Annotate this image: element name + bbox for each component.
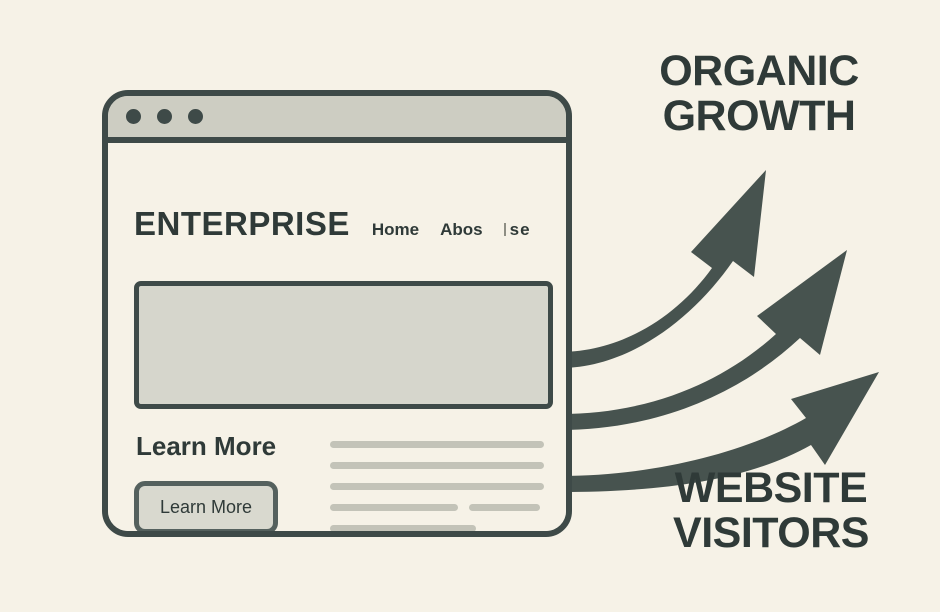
placeholder-line <box>330 483 544 490</box>
nav-link-partial[interactable]: se <box>504 220 531 240</box>
illustration-canvas: ENTERPRISE Home Abos se Learn More Learn… <box>0 0 940 612</box>
placeholder-line <box>330 462 544 469</box>
placeholder-line <box>469 504 540 511</box>
browser-window-mockup: ENTERPRISE Home Abos se Learn More Learn… <box>102 90 572 537</box>
site-header: ENTERPRISE Home Abos se <box>134 205 546 243</box>
label-organic-growth-line1: ORGANIC <box>586 49 932 94</box>
placeholder-line-row <box>330 525 544 532</box>
placeholder-line <box>330 525 476 532</box>
nav-link-partial-label: se <box>510 220 531 239</box>
label-website-visitors-line2: VISITORS <box>610 511 932 556</box>
placeholder-line-row <box>330 483 544 490</box>
cta-column: Learn More Learn More <box>134 433 330 537</box>
nav-link-abos[interactable]: Abos <box>440 220 483 240</box>
window-dot-close-icon[interactable] <box>126 109 141 124</box>
content-lower-section: Learn More Learn More <box>134 433 544 537</box>
learn-more-button[interactable]: Learn More <box>134 481 278 534</box>
placeholder-line <box>330 441 544 448</box>
window-dot-minimize-icon[interactable] <box>157 109 172 124</box>
site-navigation: Home Abos se <box>372 220 531 243</box>
label-website-visitors-line1: WEBSITE <box>610 466 932 511</box>
label-website-visitors: WEBSITE VISITORS <box>610 466 932 555</box>
hero-image-placeholder <box>134 281 553 409</box>
label-organic-growth-line2: GROWTH <box>586 94 932 139</box>
cta-heading: Learn More <box>136 433 330 459</box>
placeholder-line-row <box>330 462 544 469</box>
nav-divider-tick <box>504 223 506 236</box>
window-dot-maximize-icon[interactable] <box>188 109 203 124</box>
nav-link-home[interactable]: Home <box>372 220 419 240</box>
placeholder-line-row <box>330 504 544 511</box>
site-brand-logo[interactable]: ENTERPRISE <box>134 205 350 243</box>
label-organic-growth: ORGANIC GROWTH <box>586 49 932 138</box>
placeholder-text-block <box>330 433 544 537</box>
placeholder-line <box>330 504 458 511</box>
growth-arrow-top <box>560 170 766 368</box>
browser-viewport: ENTERPRISE Home Abos se Learn More Learn… <box>108 143 566 537</box>
placeholder-line-row <box>330 441 544 448</box>
browser-titlebar <box>108 96 566 143</box>
